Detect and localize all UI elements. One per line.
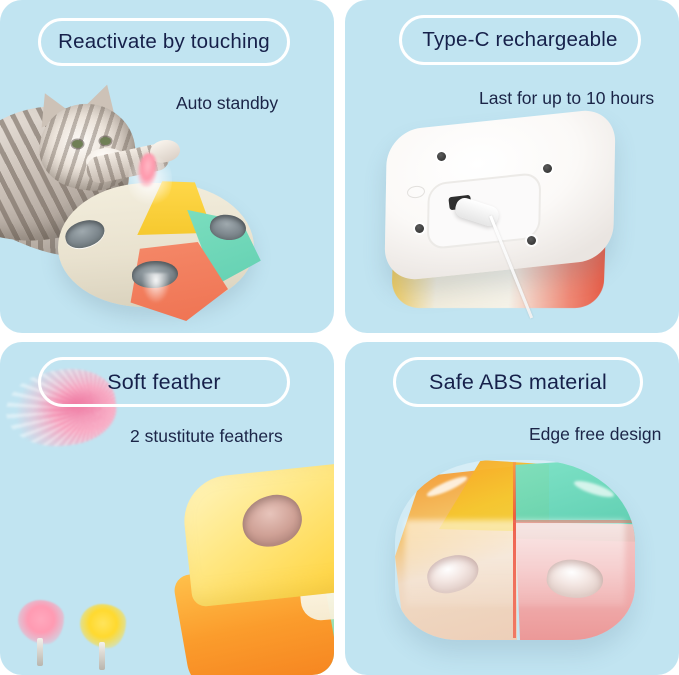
- cat-toy-underside: [385, 120, 615, 310]
- panel-caption-reactivate: Auto standby: [176, 93, 278, 114]
- screw-hole-4: [527, 236, 536, 245]
- panel-caption-soft-feather: 2 stustitute feathers: [130, 426, 283, 447]
- feature-panel-type-c: Type-C rechargeable Last for up to 10 ho…: [345, 0, 679, 333]
- toy-divider-horizontal: [513, 520, 635, 523]
- headline-text: Soft feather: [107, 370, 221, 395]
- cat-eye-right: [100, 137, 111, 145]
- cat-toy-full: [395, 460, 635, 640]
- feature-panel-reactivate: Reactivate by touching Auto standby: [0, 0, 334, 333]
- panel-caption-safe-abs: Edge free design: [529, 424, 661, 445]
- screw-hole-2: [543, 164, 552, 173]
- cat-toy-closeup: [150, 470, 334, 675]
- light-beam: [136, 273, 176, 325]
- headline-text: Safe ABS material: [429, 370, 607, 395]
- headline-text: Reactivate by touching: [58, 30, 270, 54]
- headline-text: Type-C rechargeable: [422, 28, 617, 52]
- feather-stick: [99, 642, 105, 670]
- toy-shell: [395, 460, 635, 640]
- toy-divider-vertical: [513, 462, 516, 638]
- screw-hole-3: [415, 224, 424, 233]
- panel-headline-reactivate: Reactivate by touching: [38, 18, 290, 66]
- feature-panel-soft-feather: Soft feather 2 stustitute feathers: [0, 342, 334, 675]
- cat-eye-left: [72, 140, 83, 148]
- panel-headline-soft-feather: Soft feather: [38, 357, 290, 407]
- feather-stick: [37, 638, 43, 666]
- panel-headline-safe-abs: Safe ABS material: [393, 357, 643, 407]
- panel-caption-type-c: Last for up to 10 hours: [479, 88, 654, 109]
- feature-panel-safe-abs: Safe ABS material Edge free design: [345, 342, 679, 675]
- screw-hole-1: [437, 152, 446, 161]
- infographic-sheet: Reactivate by touching Auto standby Type…: [0, 0, 679, 675]
- panel-headline-type-c: Type-C rechargeable: [399, 15, 641, 65]
